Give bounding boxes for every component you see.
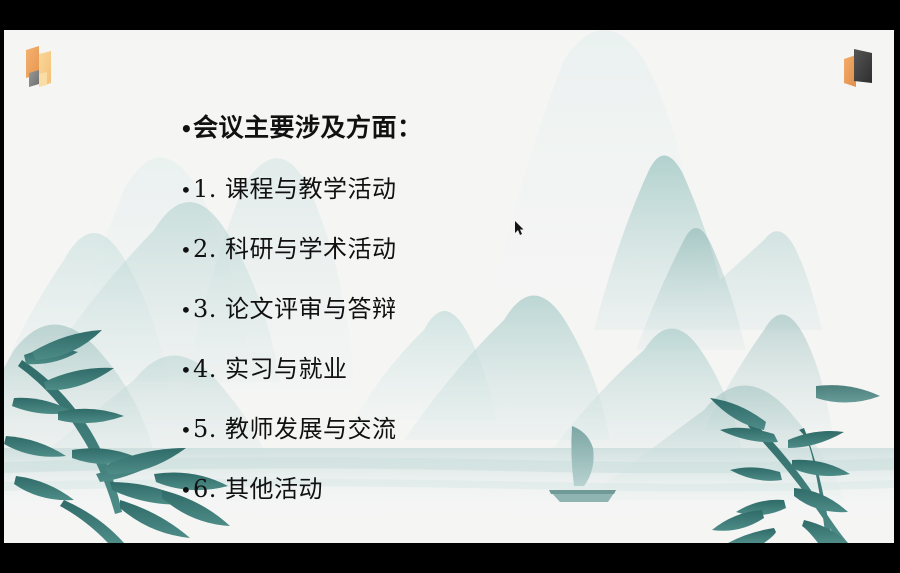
bullet-glyph: • — [180, 119, 193, 139]
slide-title-line: • 会议主要涉及方面： — [180, 108, 600, 144]
list-item-label: 4. 实习与就业 — [193, 349, 348, 384]
list-item: • 3. 论文评审与答辩 — [180, 289, 600, 324]
slide-text-block: • 会议主要涉及方面： • 1. 课程与教学活动 • 2. 科研与学术活动 • … — [180, 108, 600, 504]
list-item-label: 5. 教师发展与交流 — [193, 409, 397, 444]
logo-top-right — [834, 43, 880, 95]
bullet-glyph: • — [180, 480, 193, 500]
list-item: • 2. 科研与学术活动 — [180, 229, 600, 264]
logo-top-left — [14, 43, 60, 95]
list-item: • 1. 课程与教学活动 — [180, 169, 600, 204]
page-title: 会议主要涉及方面： — [193, 108, 423, 144]
bullet-glyph: • — [180, 240, 193, 260]
bullet-glyph: • — [180, 420, 193, 440]
bullet-glyph: • — [180, 360, 193, 380]
list-item-label: 1. 课程与教学活动 — [193, 169, 397, 204]
list-item-label: 2. 科研与学术活动 — [193, 229, 397, 264]
list-item: • 4. 实习与就业 — [180, 349, 600, 384]
list-item-label: 3. 论文评审与答辩 — [193, 289, 397, 324]
bullet-glyph: • — [180, 180, 193, 200]
video-player-screen: • 会议主要涉及方面： • 1. 课程与教学活动 • 2. 科研与学术活动 • … — [0, 0, 900, 573]
list-item: • 6. 其他活动 — [180, 469, 600, 504]
bullet-glyph: • — [180, 300, 193, 320]
bamboo-right — [710, 385, 880, 543]
list-item-label: 6. 其他活动 — [193, 469, 323, 504]
list-item: • 5. 教师发展与交流 — [180, 409, 600, 444]
mouse-pointer-icon — [514, 220, 525, 236]
presentation-slide: • 会议主要涉及方面： • 1. 课程与教学活动 • 2. 科研与学术活动 • … — [4, 30, 894, 543]
